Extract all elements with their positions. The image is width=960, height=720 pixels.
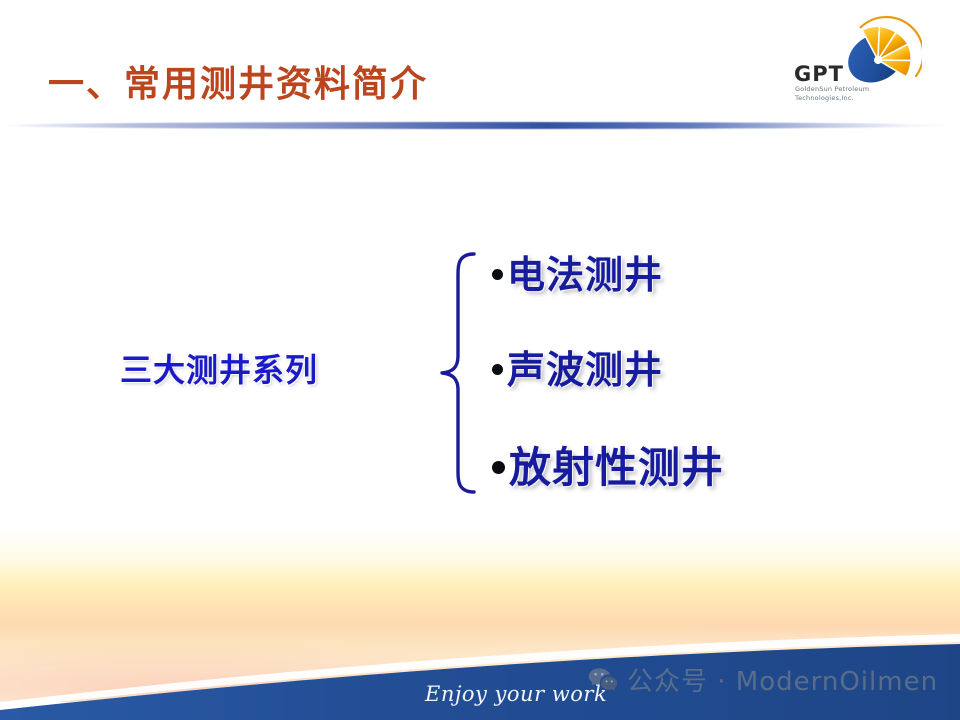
list-item: 声波测井 — [492, 339, 912, 394]
slide-body: 三大测井系列 电法测井 声波测井 放射性测井 — [0, 140, 960, 560]
bullet-dot-icon — [492, 461, 505, 474]
diagram-group-label: 三大测井系列 — [120, 345, 318, 391]
footer-slogan: Enjoy your work — [425, 682, 607, 706]
list-item-label: 放射性测井 — [509, 434, 724, 495]
diagram-item-list: 电法测井 声波测井 放射性测井 — [492, 240, 912, 495]
sun-globe-icon — [834, 14, 922, 90]
logo-subtitle-line1: GoldenSun Petroleum — [795, 85, 869, 93]
slide-footer: Enjoy your work — [0, 530, 960, 720]
logo-subtitle-line2: Technologies,Inc. — [795, 94, 854, 102]
list-item-label: 声波测井 — [507, 339, 663, 394]
title-divider — [0, 122, 960, 129]
list-item-label: 电法测井 — [507, 244, 663, 299]
bullet-dot-icon — [492, 269, 503, 280]
list-item: 电法测井 — [492, 244, 912, 299]
left-curly-brace-icon — [428, 248, 490, 498]
company-logo: GPT GoldenSun Petroleum Technologies,Inc… — [782, 14, 922, 110]
list-item: 放射性测井 — [492, 434, 912, 495]
logo-wordmark: GPT — [794, 62, 844, 86]
slide-canvas: 一、常用测井资料简介 — [0, 0, 960, 720]
slide-header: 一、常用测井资料简介 — [0, 0, 960, 135]
bullet-dot-icon — [492, 364, 503, 375]
page-title: 一、常用测井资料简介 — [48, 55, 428, 107]
